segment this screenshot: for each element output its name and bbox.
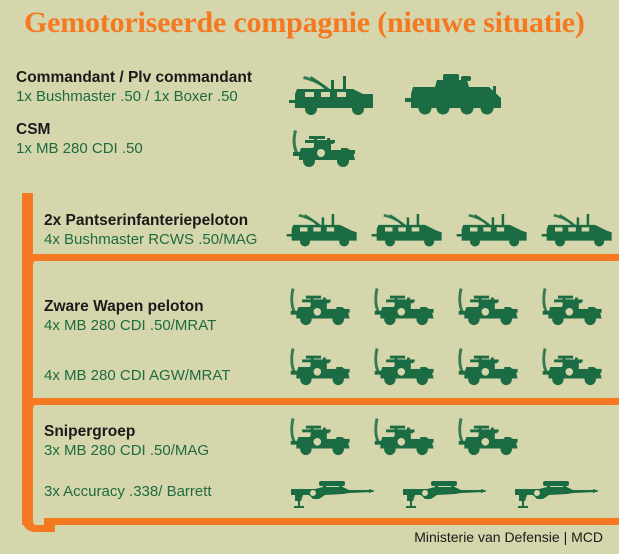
mb280cdi-jeep-icon [537,285,613,331]
icon-row-pantserinfanteriepeloton [285,206,619,252]
section-csm-detail: 1x MB 280 CDI .50 [16,139,143,159]
boxer-icon [405,70,509,118]
mb280cdi-jeep-icon [285,285,361,331]
mb280cdi-jeep-icon [453,285,529,331]
icon-row-csm [287,126,367,172]
mb280cdi-jeep-icon [369,415,445,461]
section-csm-header: CSM [16,120,143,139]
mb280cdi-jeep-icon [453,345,529,391]
section-zware-wapen-peloton-detail: 4x MB 280 CDI .50/MRAT [44,316,216,336]
infographic-root: Gemotoriseerde compagnie (nieuwe situati… [0,0,619,554]
bushmaster-icon [370,206,450,252]
section-zware-wapen-peloton-header: Zware Wapen peloton [44,297,216,316]
icon-row-snipergroep-vehicles [285,415,529,461]
section-commandant-header: Commandant / Plv commandant [16,68,252,87]
bushmaster-icon [287,70,383,118]
section-pantserinfanteriepeloton-detail: 4x Bushmaster RCWS .50/MAG [44,230,257,250]
mb280cdi-jeep-icon [287,126,367,172]
bracket-divider-2 [44,398,619,405]
page-title: Gemotoriseerde compagnie (nieuwe situati… [24,6,585,40]
section-csm: CSM 1x MB 280 CDI .50 [16,120,143,159]
section-commandant: Commandant / Plv commandant 1x Bushmaste… [16,68,252,107]
bracket-divider-1 [44,254,619,261]
icon-row-commandant [287,70,509,118]
mb280cdi-jeep-icon [453,415,529,461]
mb280cdi-jeep-icon [285,415,361,461]
sniper-rifle-icon [397,476,487,510]
sniper-rifle-icon [285,476,375,510]
sniper-rifle-icon [509,476,599,510]
bracket-divider-bottom [44,518,619,525]
footer-credit: Ministerie van Defensie | MCD [414,529,603,545]
section-zware-wapen-peloton-detail2: 4x MB 280 CDI AGW/MRAT [44,366,230,386]
bushmaster-icon [540,206,619,252]
section-snipergroep-detail2-wrap: 3x Accuracy .338/ Barrett [44,482,212,502]
section-pantserinfanteriepeloton: 2x Pantserinfanteriepeloton 4x Bushmaste… [44,211,257,250]
section-snipergroep: Snipergroep 3x MB 280 CDI .50/MAG [44,422,209,461]
mb280cdi-jeep-icon [369,285,445,331]
mb280cdi-jeep-icon [369,345,445,391]
section-snipergroep-header: Snipergroep [44,422,209,441]
mb280cdi-jeep-icon [537,345,613,391]
section-zware-wapen-peloton: Zware Wapen peloton 4x MB 280 CDI .50/MR… [44,297,216,336]
icon-row-zware-wapen-1 [285,285,613,331]
mb280cdi-jeep-icon [285,345,361,391]
section-snipergroep-detail: 3x MB 280 CDI .50/MAG [44,441,209,461]
section-snipergroep-detail2: 3x Accuracy .338/ Barrett [44,482,212,502]
bushmaster-icon [285,206,365,252]
section-commandant-detail: 1x Bushmaster .50 / 1x Boxer .50 [16,87,252,107]
bracket-vertical-bar [22,193,33,525]
bushmaster-icon [455,206,535,252]
icon-row-zware-wapen-2 [285,345,613,391]
section-pantserinfanteriepeloton-header: 2x Pantserinfanteriepeloton [44,211,257,230]
section-zware-wapen-peloton-detail2-wrap: 4x MB 280 CDI AGW/MRAT [44,366,230,386]
icon-row-snipergroep-rifles [285,476,599,510]
